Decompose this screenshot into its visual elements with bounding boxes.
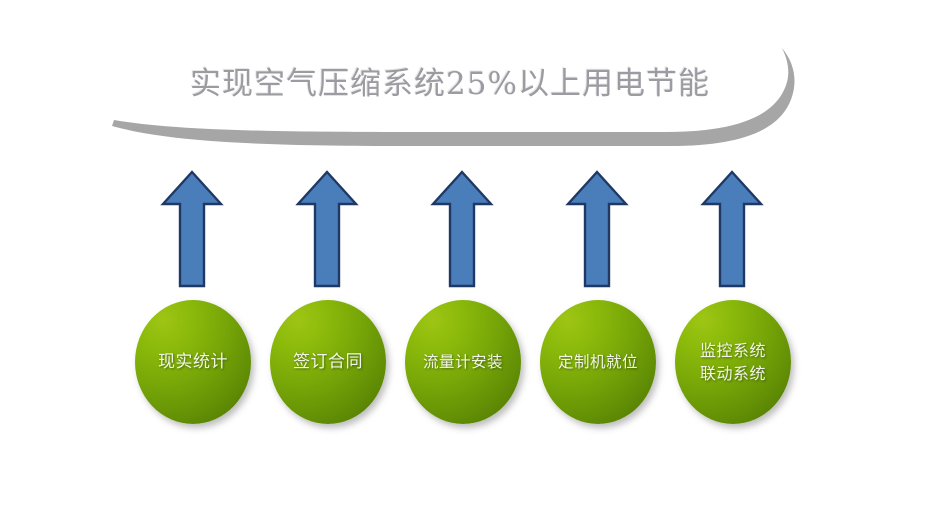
title-banner: 实现空气压缩系统25%以上用电节能 [110, 34, 810, 146]
step-node-4[interactable]: 定制机就位 [540, 300, 656, 424]
step-node-3[interactable]: 流量计安装 [405, 300, 521, 424]
step-node-label: 流量计安装 [417, 352, 509, 372]
step-node-label: 签订合同 [287, 351, 369, 373]
step-node-1[interactable]: 现实统计 [135, 300, 251, 424]
step-node-label: 现实统计 [152, 351, 234, 373]
up-arrow-icon [431, 170, 493, 288]
step-node-2[interactable]: 签订合同 [270, 300, 386, 424]
up-arrow-icon [296, 170, 358, 288]
slide-canvas: 实现空气压缩系统25%以上用电节能 现实统计 签订合同 流量计安装 [0, 0, 945, 529]
step-node-label: 监控系统 联动系统 [694, 339, 772, 385]
up-arrow-icon [161, 170, 223, 288]
page-title: 实现空气压缩系统25%以上用电节能 [150, 50, 750, 110]
step-node-5[interactable]: 监控系统 联动系统 [675, 300, 791, 424]
step-node-label: 定制机就位 [552, 352, 644, 372]
up-arrow-icon [701, 170, 763, 288]
up-arrow-icon [566, 170, 628, 288]
